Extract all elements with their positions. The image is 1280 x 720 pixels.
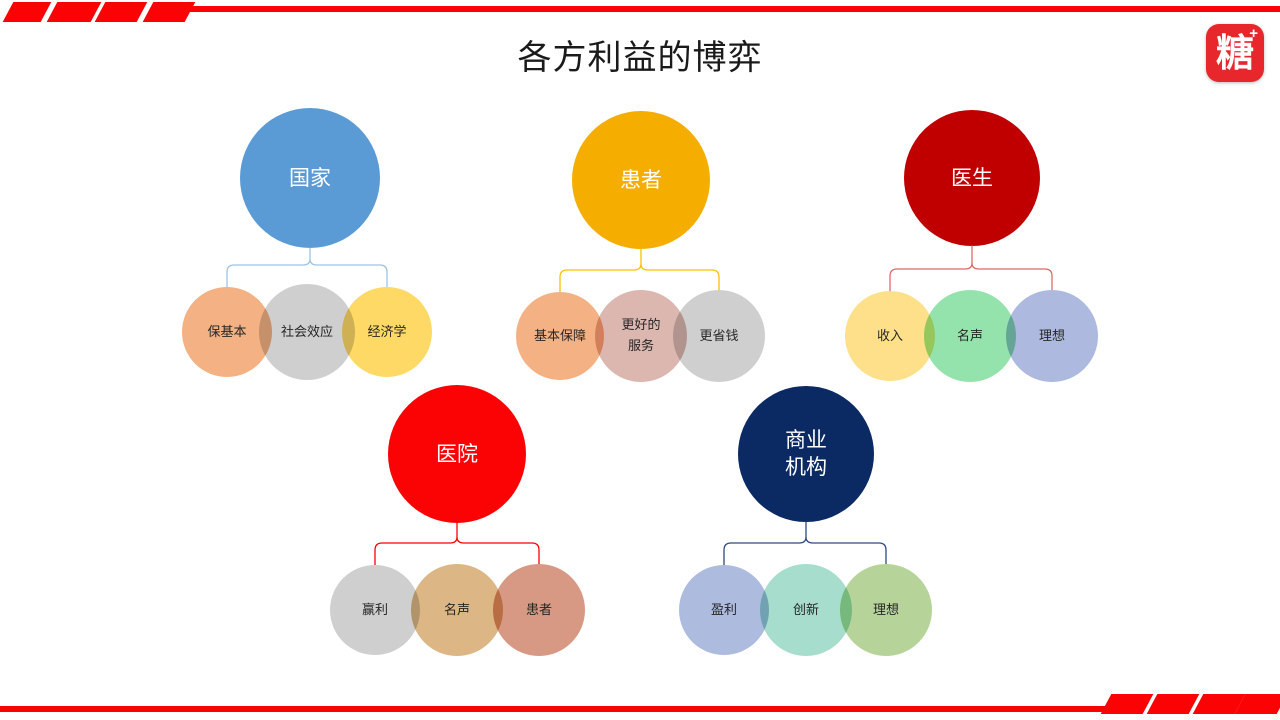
child-circle-label-business-1: 创新 — [760, 564, 852, 656]
child-circle-label-business-0: 盈利 — [679, 565, 769, 655]
child-circle-label-business-2: 理想 — [840, 564, 932, 656]
slide-canvas: 糖 + 各方利益的博弈 国家保基本社会效应经济学患者基本保障更好的 服务更省钱医… — [0, 0, 1280, 720]
child-circles-business — [0, 0, 1280, 720]
